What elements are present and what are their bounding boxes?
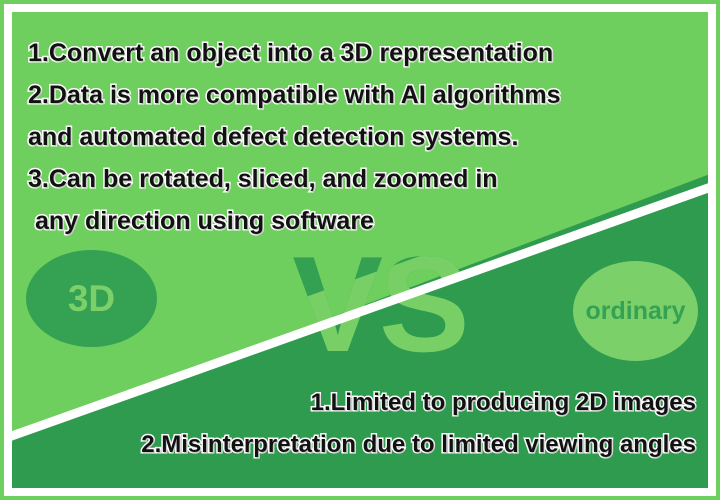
comparison-infographic: VS VS 3D ordinary 1.Convert an object in… (0, 0, 720, 500)
advantage-line-1: 1.Convert an object into a 3D representa… (28, 32, 668, 74)
badge-3d: 3D (26, 250, 157, 347)
limitation-line-2: 2.Misinterpretation due to limited viewi… (12, 424, 696, 466)
badge-ordinary-label: ordinary (585, 299, 685, 324)
advantages-text-block: 1.Convert an object into a 3D representa… (28, 32, 668, 242)
limitation-line-1: 1.Limited to producing 2D images (12, 382, 696, 424)
limitations-text-block: 1.Limited to producing 2D images 2.Misin… (12, 382, 696, 466)
badge-3d-label: 3D (68, 280, 115, 317)
advantage-line-5: any direction using software (28, 200, 668, 242)
infographic-stage: VS VS 3D ordinary 1.Convert an object in… (12, 12, 708, 488)
advantage-line-3: and automated defect detection systems. (28, 116, 668, 158)
badge-ordinary: ordinary (573, 261, 698, 361)
advantage-line-2: 2.Data is more compatible with AI algori… (28, 74, 668, 116)
advantage-line-4: 3.Can be rotated, sliced, and zoomed in (28, 158, 668, 200)
